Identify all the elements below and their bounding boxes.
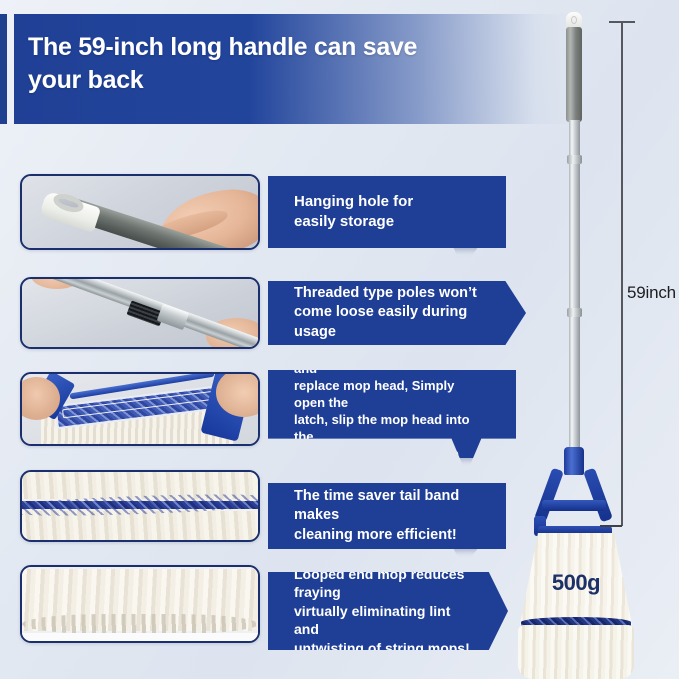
feature-photo-looped-end [20,565,260,643]
callout-5-line-3: untwisting of string mops! [294,639,474,657]
callout-side-gate: A side gate for easily remove and replac… [268,370,516,458]
callout-4-line-2: cleaning more efficient! [294,526,472,545]
feature-photo-hanging-hole [20,174,260,250]
callout-hanging-hole: Hanging hole for easily storage [268,176,506,248]
dimension-label: 59inch [627,283,676,303]
pole-joint-lower [567,308,582,317]
callout-4-line-1: The time saver tail band makes [294,487,472,525]
callout-5-line-1: Looped end mop reduces fraying [294,565,474,602]
header-line-1: The 59-inch long handle can [28,33,356,61]
pole-joint-upper [567,155,582,164]
yoke-right-arm [583,468,613,523]
dimension-tick-bottom [600,525,622,527]
feature-photo-threaded-poles [20,277,260,349]
callout-3-line-2: replace mop head, Simply open the [294,378,482,412]
header-accent-bar [0,14,7,124]
lower-pole [569,266,580,466]
infographic-canvas: The 59-inch long handle can save your ba… [0,0,679,679]
callout-3-line-3: latch, slip the mop head into the [294,412,482,446]
dimension-line [621,22,623,526]
callout-1-line-2: easily storage [294,212,413,232]
yoke-cross-bar [542,500,606,511]
callout-2-line-1: Threaded type poles won’t [294,284,492,303]
mop-looped-ends [518,625,634,679]
handle-grip [566,27,582,122]
callout-threaded-poles: Threaded type poles won’t come loose eas… [268,281,526,345]
page-title: The 59-inch long handle can save your ba… [28,31,448,98]
callout-looped-end: Looped end mop reduces fraying virtually… [268,572,508,650]
callout-tail-band: The time saver tail band makes cleaning … [268,483,506,549]
callout-1-line-1: Hanging hole for [294,192,413,212]
upper-pole [569,120,580,268]
mop-neck-connector [564,447,584,475]
callout-5-line-2: virtually eliminating lint and [294,602,474,639]
yoke-left-arm [534,468,564,523]
callout-3-line-1: A side gate for easily remove and [294,344,482,378]
callout-2-line-2: come loose easily during usage [294,303,492,341]
feature-photo-tail-band [20,470,260,542]
callout-3-line-4: position ,then clip the gate tightly [294,446,482,480]
hanging-hole [571,16,577,24]
feature-photo-side-gate [20,372,260,446]
weight-label: 500g [520,570,632,596]
